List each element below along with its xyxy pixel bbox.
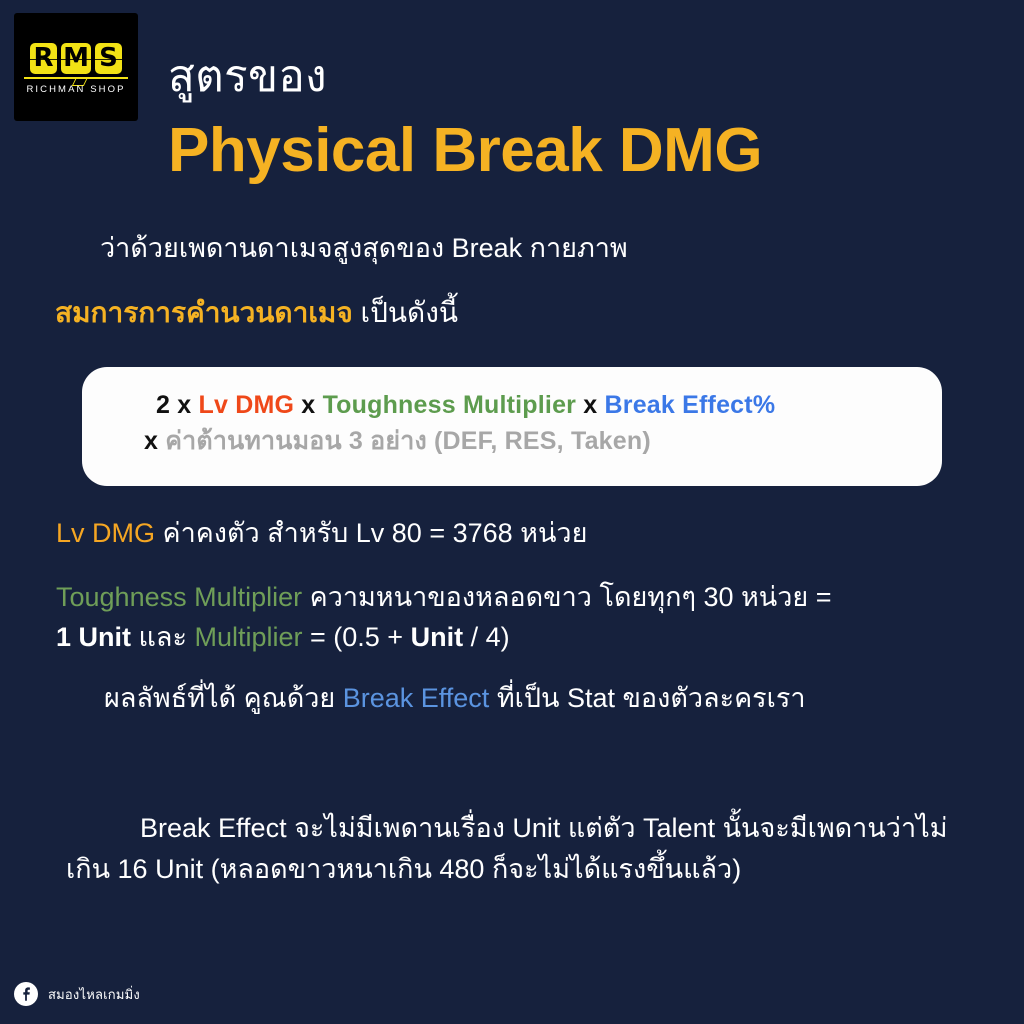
- formula-operator-3: x: [144, 427, 165, 455]
- explanation-text-toughness: ความหนาของหลอดขาว โดยทุกๆ 30 หน่วย =: [302, 582, 831, 612]
- intro-description: ว่าด้วยเพดานดาเมจสูงสุดของ Break กายภาพ: [100, 232, 628, 266]
- formula-term-break-effect: Break Effect%: [605, 391, 776, 419]
- explanation-formula-post: / 4): [463, 622, 510, 652]
- explanation-row-lv-dmg: Lv DMG ค่าคงตัว สำหรับ Lv 80 = 3768 หน่ว…: [56, 513, 996, 554]
- equation-heading-highlight: สมการการคำนวนดาเมจ: [55, 297, 353, 328]
- formula-term-toughness-multiplier: Toughness Multiplier: [323, 391, 577, 419]
- explanation-row-break-effect: ผลลัพธ์ที่ได้ คูณด้วย Break Effect ที่เป…: [56, 678, 996, 719]
- explanation-term-toughness-multiplier: Toughness Multiplier: [56, 582, 302, 612]
- logo-letter-r: R: [30, 43, 57, 74]
- explanation-term-multiplier: Multiplier: [194, 622, 302, 652]
- logo-letters: R M S: [30, 43, 122, 74]
- logo-subtitle: RICHMAN SHOP: [26, 84, 125, 95]
- formula-term-resistances: ค่าต้านทานมอน 3 อย่าง (DEF, RES, Taken): [165, 427, 651, 455]
- formula-line-1: 2 x Lv DMG x Toughness Multiplier x Brea…: [156, 387, 942, 423]
- logo-divider: [24, 77, 128, 79]
- explanation-conjunction: และ: [131, 622, 194, 652]
- formula-line-2: x ค่าต้านทานมอน 3 อย่าง (DEF, RES, Taken…: [144, 423, 942, 459]
- explanation-break-post: ที่เป็น Stat ของตัวละครเรา: [489, 683, 805, 713]
- explanation-formula-unit: Unit: [411, 622, 463, 652]
- equation-heading: สมการการคำนวนดาเมจ เป็นดังนี้: [55, 295, 458, 330]
- page-title: Physical Break DMG: [168, 118, 762, 183]
- explanation-row-unit-formula: 1 Unit และ Multiplier = (0.5 + Unit / 4): [56, 617, 996, 658]
- explanation-break-pre: ผลลัพธ์ที่ได้ คูณด้วย: [104, 683, 343, 713]
- explanation-row-toughness: Toughness Multiplier ความหนาของหลอดขาว โ…: [56, 577, 996, 618]
- formula-operator-2: x: [576, 391, 604, 419]
- facebook-icon[interactable]: [14, 982, 38, 1006]
- explanation-unit-label: 1 Unit: [56, 622, 131, 652]
- logo-letter-s: S: [95, 43, 122, 74]
- note-line-1: Break Effect จะไม่มีเพดานเรื่อง Unit แต่…: [66, 813, 790, 843]
- explanation-block: Lv DMG ค่าคงตัว สำหรับ Lv 80 = 3768 หน่ว…: [56, 513, 996, 718]
- explanation-formula-pre: = (0.5 +: [303, 622, 411, 652]
- equation-heading-rest: เป็นดังนี้: [353, 297, 458, 328]
- explanation-term-break-effect: Break Effect: [343, 683, 490, 713]
- footer-page-name[interactable]: สมองไหลเกมมิ่ง: [48, 984, 140, 1005]
- brand-logo: R M S RICHMAN SHOP: [14, 13, 138, 121]
- note-block: Break Effect จะไม่มีเพดานเรื่อง Unit แต่…: [66, 808, 956, 890]
- explanation-text-lv-dmg: ค่าคงตัว สำหรับ Lv 80 = 3768 หน่วย: [155, 518, 587, 548]
- note-line-3: แรงขึ้นแล้ว): [601, 854, 741, 884]
- formula-card: 2 x Lv DMG x Toughness Multiplier x Brea…: [82, 367, 942, 486]
- infographic-root: R M S RICHMAN SHOP สูตรของ Physical Brea…: [0, 0, 1024, 1024]
- formula-operator-1: x: [294, 391, 322, 419]
- explanation-term-lv-dmg: Lv DMG: [56, 518, 155, 548]
- formula-coefficient: 2 x: [156, 391, 199, 419]
- footer: สมองไหลเกมมิ่ง: [14, 982, 140, 1006]
- formula-term-lv-dmg: Lv DMG: [199, 391, 295, 419]
- page-kicker: สูตรของ: [168, 55, 327, 99]
- logo-letter-m: M: [61, 43, 91, 74]
